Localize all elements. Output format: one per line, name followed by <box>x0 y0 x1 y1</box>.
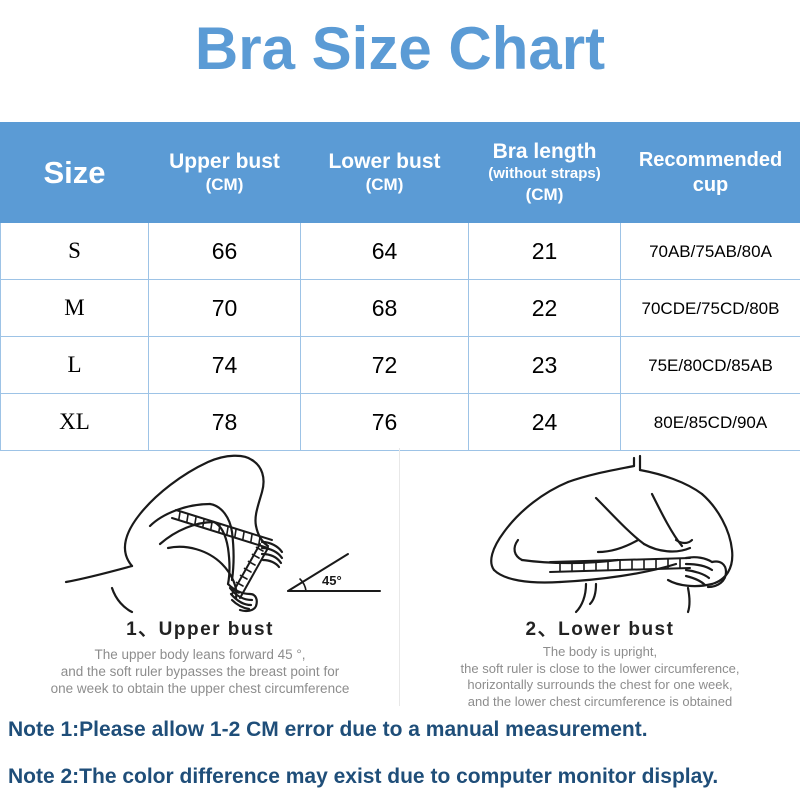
note-1: Note 1:Please allow 1-2 CM error due to … <box>8 718 648 742</box>
upper-bust-description: The upper body leans forward 45 °, and t… <box>0 646 400 697</box>
cell-recommended-cup: 80E/85CD/90A <box>621 394 800 451</box>
cell-size: S <box>1 223 149 280</box>
cell-size: M <box>1 280 149 337</box>
table-row: XL 78 76 24 80E/85CD/90A <box>1 394 800 451</box>
column-header-bra-length-note: (without straps) <box>471 164 618 184</box>
column-header-lower-bust-label: Lower bust <box>303 149 466 174</box>
column-header-bra-length-label: Bra length <box>471 139 618 164</box>
cell-size: XL <box>1 394 149 451</box>
cell-recommended-cup: 75E/80CD/85AB <box>621 337 800 394</box>
cell-lower-bust: 68 <box>301 280 469 337</box>
column-header-upper-bust-unit: (CM) <box>151 174 298 196</box>
page-title: Bra Size Chart <box>0 10 800 88</box>
column-header-bra-length: Bra length (without straps) (CM) <box>469 123 621 223</box>
lower-bust-illustration <box>400 448 800 618</box>
illustration-panels: 45° 1、Upper bust The upper body leans fo… <box>0 448 800 706</box>
cell-recommended-cup: 70CDE/75CD/80B <box>621 280 800 337</box>
column-header-bra-length-unit: (CM) <box>471 184 618 206</box>
table-header: Size Upper bust (CM) Lower bust (CM) Bra… <box>1 123 800 223</box>
cell-size: L <box>1 337 149 394</box>
size-table-container: Size Upper bust (CM) Lower bust (CM) Bra… <box>0 122 800 451</box>
column-header-recommended-cup-label: Recommended <box>623 148 798 173</box>
column-header-upper-bust-label: Upper bust <box>151 149 298 174</box>
cell-upper-bust: 74 <box>149 337 301 394</box>
table-row: M 70 68 22 70CDE/75CD/80B <box>1 280 800 337</box>
table-row: S 66 64 21 70AB/75AB/80A <box>1 223 800 280</box>
upper-bust-caption: 1、Upper bust <box>0 614 400 641</box>
column-header-recommended-cup-label2: cup <box>623 173 798 198</box>
illustration-panel-upper-bust: 45° 1、Upper bust The upper body leans fo… <box>0 448 400 706</box>
angle-label-45: 45° <box>322 573 342 588</box>
bra-size-chart-page: Bra Size Chart Size Upper bust (CM) Lowe… <box>0 0 800 800</box>
cell-lower-bust: 72 <box>301 337 469 394</box>
lower-bust-description: The body is upright, the soft ruler is c… <box>400 644 800 710</box>
cell-recommended-cup: 70AB/75AB/80A <box>621 223 800 280</box>
cell-bra-length: 22 <box>469 280 621 337</box>
cell-bra-length: 24 <box>469 394 621 451</box>
size-table: Size Upper bust (CM) Lower bust (CM) Bra… <box>0 122 800 451</box>
table-row: L 74 72 23 75E/80CD/85AB <box>1 337 800 394</box>
column-header-lower-bust-unit: (CM) <box>303 174 466 196</box>
cell-lower-bust: 64 <box>301 223 469 280</box>
column-header-size: Size <box>1 123 149 223</box>
note-2: Note 2:The color difference may exist du… <box>8 765 718 789</box>
table-header-row: Size Upper bust (CM) Lower bust (CM) Bra… <box>1 123 800 223</box>
column-header-recommended-cup: Recommended cup <box>621 123 800 223</box>
cell-bra-length: 23 <box>469 337 621 394</box>
cell-upper-bust: 70 <box>149 280 301 337</box>
column-header-upper-bust: Upper bust (CM) <box>149 123 301 223</box>
cell-upper-bust: 66 <box>149 223 301 280</box>
upper-bust-illustration: 45° <box>0 448 400 618</box>
cell-lower-bust: 76 <box>301 394 469 451</box>
column-header-size-label: Size <box>3 155 146 191</box>
table-body: S 66 64 21 70AB/75AB/80A M 70 68 22 70CD… <box>1 223 800 451</box>
cell-upper-bust: 78 <box>149 394 301 451</box>
lower-bust-caption: 2、Lower bust <box>400 614 800 641</box>
cell-bra-length: 21 <box>469 223 621 280</box>
column-header-lower-bust: Lower bust (CM) <box>301 123 469 223</box>
illustration-panel-lower-bust: 2、Lower bust The body is upright, the so… <box>400 448 800 706</box>
